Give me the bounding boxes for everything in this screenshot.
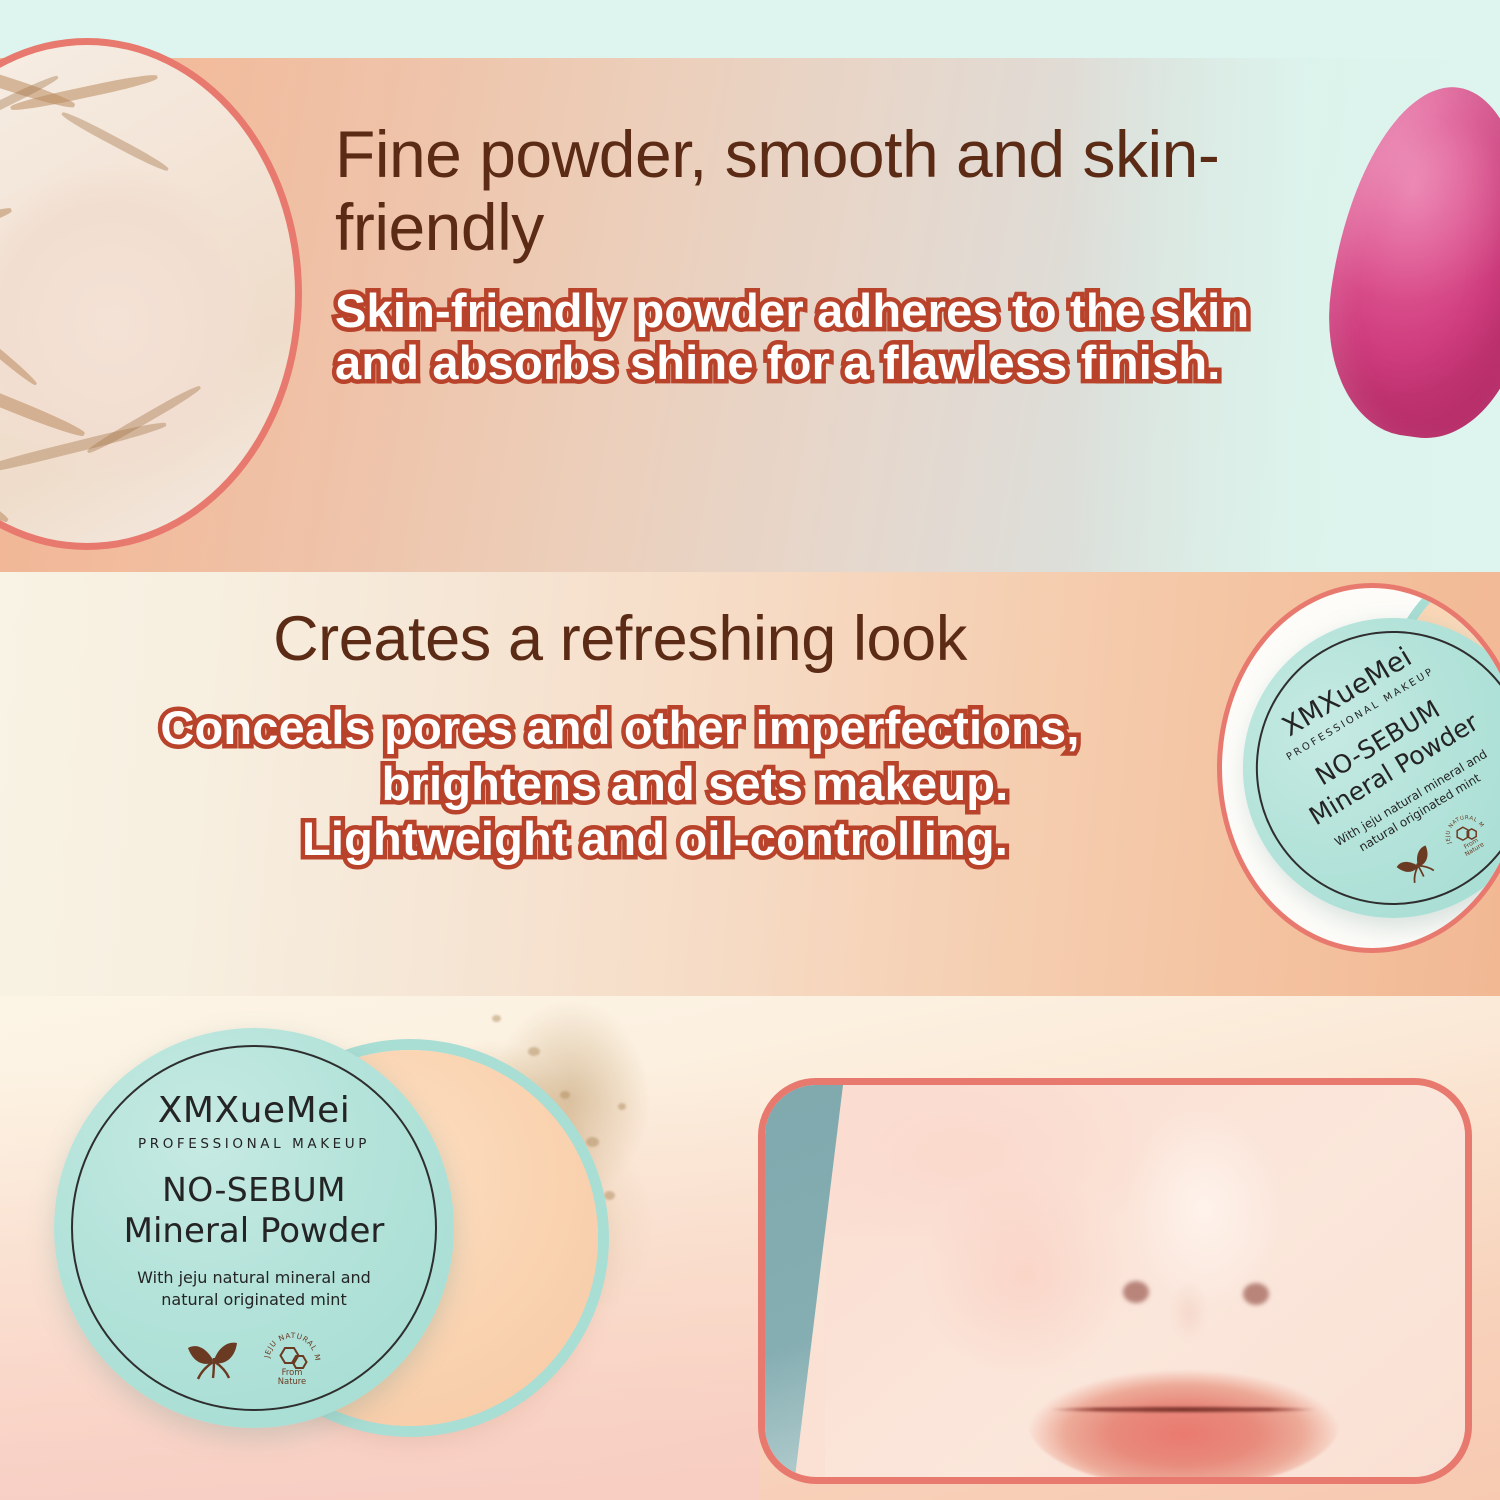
- face-philtrum: [1161, 1275, 1217, 1349]
- natural-mineral-badge-icon: JEJU NATURAL MINERAL From Nature: [261, 1328, 323, 1390]
- face-lips: [1027, 1367, 1341, 1484]
- brand-name: XMXueMei: [158, 1090, 351, 1131]
- section2-subtext-line-3: Lightweight and oil-controlling.: [0, 811, 1240, 866]
- model-face-photo: [758, 1078, 1472, 1484]
- face-lip-line: [1049, 1407, 1317, 1412]
- product-description-line-1: With jeju natural mineral and: [137, 1268, 371, 1287]
- face-nostril-left: [1123, 1281, 1149, 1303]
- product-marketing-page: Fine powder, smooth and skin-friendly Sk…: [0, 0, 1500, 1500]
- product-description: With jeju natural mineral and natural or…: [137, 1267, 371, 1311]
- product-jar-open: XMXueMei PROFESSIONAL MAKEUP NO-SEBUM Mi…: [54, 1028, 614, 1468]
- section2-subtext-line-1: Conceals pores and other imperfections,: [0, 700, 1240, 755]
- badge-nature: Nature: [278, 1376, 306, 1386]
- section1-text-block: Fine powder, smooth and skin-friendly Sk…: [335, 118, 1315, 390]
- product-description-line-1: With jeju natural mineral and: [1332, 747, 1489, 849]
- natural-mineral-badge-icon: JEJU NATURAL MINERAL From Nature: [1434, 804, 1497, 867]
- product-label-large: XMXueMei PROFESSIONAL MAKEUP NO-SEBUM Mi…: [54, 1028, 454, 1428]
- face-nostril-right: [1243, 1283, 1269, 1305]
- product-type: NO-SEBUM: [162, 1170, 346, 1209]
- badge-from: From: [1462, 837, 1479, 851]
- section2-subtext: Conceals pores and other imperfections, …: [0, 700, 1240, 866]
- product-name: Mineral Powder: [124, 1211, 385, 1251]
- section2-heading: Creates a refreshing look: [0, 606, 1240, 672]
- product-description: With jeju natural mineral and natural or…: [1332, 746, 1499, 865]
- product-description-line-2: natural originated mint: [1356, 770, 1482, 854]
- section2-subtext-line-2: brightens and sets makeup.: [0, 756, 1240, 811]
- section-fine-powder: Fine powder, smooth and skin-friendly Sk…: [0, 0, 1500, 572]
- label-badges: JEJU NATURAL MINERAL From Nature: [185, 1328, 323, 1390]
- jar-lid-large: XMXueMei PROFESSIONAL MAKEUP NO-SEBUM Mi…: [54, 1028, 454, 1428]
- brand-tagline: PROFESSIONAL MAKEUP: [138, 1136, 370, 1152]
- product-name: Mineral Powder: [1304, 707, 1483, 831]
- svg-text:JEJU NATURAL MINERAL: JEJU NATURAL MINERAL: [261, 1328, 322, 1362]
- svg-text:JEJU NATURAL MINERAL: JEJU NATURAL MINERAL: [1434, 804, 1485, 850]
- leaf-icon: [1390, 838, 1445, 890]
- badge-circle-text: JEJU NATURAL MINERAL: [261, 1328, 322, 1362]
- leaf-icon: [185, 1336, 245, 1382]
- badge-from: From: [282, 1367, 303, 1377]
- section1-heading: Fine powder, smooth and skin-friendly: [335, 118, 1315, 265]
- badge-circle-text: JEJU NATURAL MINERAL: [1434, 804, 1485, 850]
- badge-nature: Nature: [1463, 841, 1485, 858]
- brand-tagline: PROFESSIONAL MAKEUP: [1285, 666, 1437, 763]
- label-badges: JEJU NATURAL MINERAL From Nature: [1387, 804, 1497, 895]
- product-description-line-2: natural originated mint: [161, 1290, 346, 1309]
- section2-text-block: Creates a refreshing look Conceals pores…: [0, 606, 1240, 867]
- product-type: NO-SEBUM: [1310, 694, 1445, 791]
- section1-subtext: Skin-friendly powder adheres to the skin…: [335, 285, 1315, 390]
- brand-name: XMXueMei: [1277, 641, 1418, 742]
